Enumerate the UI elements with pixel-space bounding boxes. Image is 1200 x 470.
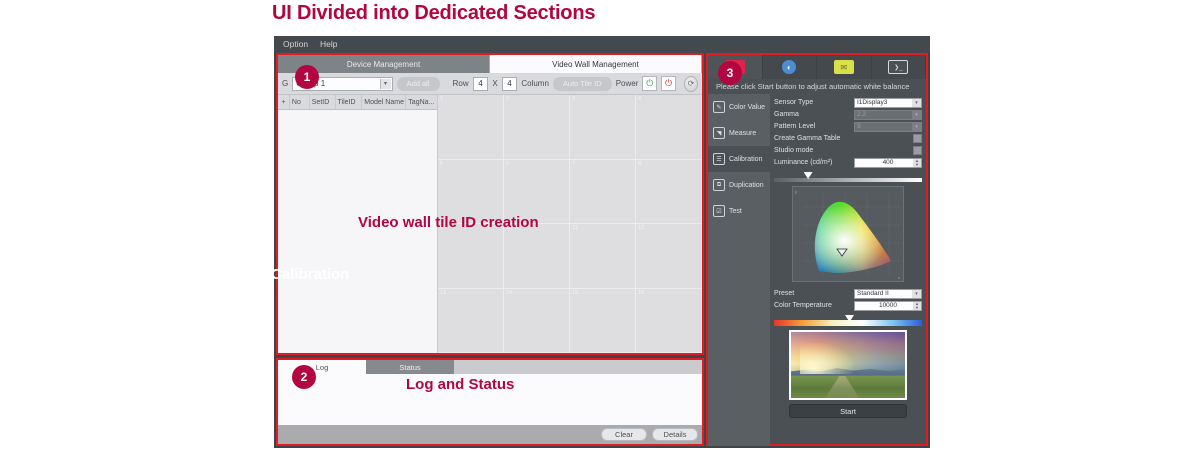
tab-log[interactable]: Log: [278, 360, 366, 374]
tile-number: 7: [572, 161, 575, 167]
globe-icon: ◐: [782, 60, 796, 74]
badge-1: 1: [295, 65, 319, 89]
auto-tile-id-button[interactable]: Auto Tile ID: [553, 77, 612, 91]
start-button[interactable]: Start: [789, 404, 907, 418]
page-title: UI Divided into Dedicated Sections: [272, 2, 595, 25]
preset-select[interactable]: Standard II ▾: [854, 289, 922, 299]
screenshot-root: UI Divided into Dedicated Sections Optio…: [0, 0, 1200, 470]
field-sensor-type: Sensor Type I1Display3 ▾: [774, 97, 922, 108]
tile-number: 15: [572, 290, 578, 296]
video-wall-toolbar: G Group 1 ▾ Add all Row 4 X 4 Column Aut…: [278, 73, 702, 95]
studio-mode-checkbox[interactable]: [913, 146, 922, 155]
sensor-type-select[interactable]: I1Display3 ▾: [854, 98, 922, 108]
chevron-down-icon: ▾: [380, 79, 391, 89]
column-label: Column: [521, 79, 549, 88]
sidebar-item-duplication[interactable]: ⧉ Duplication: [708, 172, 770, 198]
log-content-area[interactable]: [278, 374, 702, 425]
field-label: Gamma: [774, 111, 854, 118]
field-label: Sensor Type: [774, 99, 854, 106]
badge-2: 2: [292, 365, 316, 389]
chevron-down-icon: ▾: [912, 111, 921, 119]
app-window: Option Help Device Management Video Wall…: [274, 36, 930, 448]
tile-cell[interactable]: 8: [636, 160, 702, 225]
tile-number: 16: [638, 290, 644, 296]
cie-chromaticity-diagram[interactable]: y x: [792, 186, 904, 282]
power-label: Power: [616, 79, 639, 88]
measure-icon: ◥: [713, 127, 725, 139]
column-header-tagname: TagNa...: [406, 95, 437, 109]
tile-cell[interactable]: 12: [636, 224, 702, 289]
log-footer: Clear Details: [278, 425, 702, 444]
sidebar-item-calibration[interactable]: ☰ Calibration: [708, 146, 770, 172]
tile-number: 5: [440, 161, 443, 167]
field-value: 400: [883, 159, 894, 166]
sidebar-item-label: Measure: [729, 130, 756, 137]
main-tab-bar: Device Management Video Wall Management: [278, 55, 702, 73]
field-pattern-level: Pattern Level 9 ▾: [774, 121, 922, 132]
monitor-icon: ☑: [713, 205, 725, 217]
sidebar-item-label: Test: [729, 208, 742, 215]
tile-cell[interactable]: 7: [570, 160, 636, 225]
column-header-tileid: TileID: [336, 95, 363, 109]
tab-video-wall-management[interactable]: Video Wall Management: [490, 55, 702, 73]
group-label: G: [282, 79, 288, 88]
tile-number: 4: [638, 96, 641, 102]
copy-icon: ⧉: [713, 179, 725, 191]
video-wall-body: + No SetID TileID Model Name TagNa... 1 …: [278, 95, 702, 353]
chevron-down-icon: ▾: [912, 290, 921, 298]
create-gamma-table-checkbox[interactable]: [913, 134, 922, 143]
log-tab-filler: [454, 360, 702, 374]
tile-number: 13: [440, 290, 446, 296]
field-preset: Preset Standard II ▾: [774, 288, 922, 299]
calibration-nav: ✎ Color Value ◥ Measure ☰ Calibration ⧉ …: [708, 94, 770, 446]
tile-cell[interactable]: 13: [438, 289, 504, 354]
device-table-body[interactable]: [278, 110, 437, 353]
menu-item-option[interactable]: Option: [283, 36, 308, 53]
section-log-status: Log Status Clear Details: [276, 358, 704, 446]
tile-number: 1: [440, 96, 443, 102]
tile-number: 10: [506, 225, 512, 231]
power-off-icon[interactable]: ⏻: [661, 76, 676, 91]
pattern-level-select[interactable]: 9 ▾: [854, 122, 922, 132]
tile-cell[interactable]: 3: [570, 95, 636, 160]
luminance-slider-track: [774, 178, 922, 182]
sidebar-item-measure[interactable]: ◥ Measure: [708, 120, 770, 146]
cie-x-axis-label: x: [898, 276, 900, 280]
column-header-setid: SetID: [310, 95, 336, 109]
sidebar-item-label: Color Value: [729, 104, 765, 111]
calibration-hint: Please click Start button to adjust auto…: [708, 79, 926, 94]
tile-cell[interactable]: 5: [438, 160, 504, 225]
field-value: Standard II: [857, 290, 889, 297]
chevron-down-icon: ▾: [912, 99, 921, 107]
badge-3: 3: [718, 61, 742, 85]
tile-number: 11: [572, 225, 578, 231]
menu-bar: Option Help: [274, 36, 930, 53]
tile-cell[interactable]: 9: [438, 224, 504, 289]
field-value: 10000: [879, 302, 897, 309]
field-gamma: Gamma 2.2 ▾: [774, 109, 922, 120]
tile-cell[interactable]: 16: [636, 289, 702, 354]
calibration-settings: Sensor Type I1Display3 ▾ Gamma 2.2 ▾: [770, 94, 926, 446]
field-label: Preset: [774, 290, 854, 297]
field-create-gamma-table: Create Gamma Table: [774, 133, 922, 144]
sidebar-item-label: Duplication: [729, 182, 764, 189]
tile-number: 12: [638, 225, 644, 231]
tile-number: 2: [506, 96, 509, 102]
terminal-icon: ❯_: [888, 60, 908, 74]
log-tab-bar: Log Status: [278, 360, 702, 374]
tile-number: 14: [506, 290, 512, 296]
field-studio-mode: Studio mode: [774, 145, 922, 156]
field-label: Studio mode: [774, 147, 854, 154]
clear-button[interactable]: Clear: [601, 428, 647, 441]
luminance-slider[interactable]: [774, 172, 922, 184]
tab-network[interactable]: ◐: [763, 55, 818, 79]
field-luminance: Luminance (cd/m²) 400 ▲▼: [774, 157, 922, 168]
tile-cell[interactable]: 10: [504, 224, 570, 289]
cie-diagram-svg: [793, 187, 905, 283]
field-color-temperature: Color Temperature 10000 ▲▼: [774, 300, 922, 311]
calibration-preview-image: [789, 330, 907, 400]
sidebar-item-label: Calibration: [729, 156, 762, 163]
tile-number: 6: [506, 161, 509, 167]
x-separator: X: [492, 79, 497, 88]
sidebar-item-test[interactable]: ☑ Test: [708, 198, 770, 224]
tile-cell[interactable]: 11: [570, 224, 636, 289]
column-input[interactable]: 4: [502, 77, 518, 91]
tile-cell[interactable]: 1: [438, 95, 504, 160]
spinner-icon[interactable]: ▲▼: [913, 159, 921, 167]
sidebar-item-color-value[interactable]: ✎ Color Value: [708, 94, 770, 120]
field-label: Luminance (cd/m²): [774, 159, 854, 166]
field-label: Create Gamma Table: [774, 135, 854, 142]
refresh-icon[interactable]: ⟳: [684, 76, 698, 92]
video-wall-grid: 1 2 3 4 5 6 7 8 9 10 11 12 13 14: [438, 95, 702, 353]
menu-item-help[interactable]: Help: [320, 36, 337, 53]
tile-cell[interactable]: 15: [570, 289, 636, 354]
row-input[interactable]: 4: [473, 77, 489, 91]
tab-status[interactable]: Status: [366, 360, 454, 374]
details-button[interactable]: Details: [652, 428, 698, 441]
field-value: 9: [857, 123, 861, 130]
envelope-icon: ✉: [834, 60, 854, 74]
calibration-body: ✎ Color Value ◥ Measure ☰ Calibration ⧉ …: [708, 94, 926, 446]
field-label: Pattern Level: [774, 123, 854, 130]
tile-number: 8: [638, 161, 641, 167]
color-temperature-slider-track: [774, 320, 922, 326]
eyedropper-icon: ✎: [713, 101, 725, 113]
tile-cell[interactable]: 2: [504, 95, 570, 160]
tile-number: 3: [572, 96, 575, 102]
add-all-button[interactable]: Add all: [397, 77, 440, 91]
tab-terminal[interactable]: ❯_: [872, 55, 927, 79]
device-table: + No SetID TileID Model Name TagNa...: [278, 95, 438, 353]
color-temperature-slider[interactable]: [774, 315, 922, 327]
cie-y-axis-label: y: [795, 190, 797, 194]
tile-cell[interactable]: 14: [504, 289, 570, 354]
tile-cell[interactable]: 6: [504, 160, 570, 225]
spinner-icon[interactable]: ▲▼: [913, 302, 921, 310]
color-temperature-input[interactable]: 10000 ▲▼: [854, 301, 922, 311]
sliders-icon: ☰: [713, 153, 725, 165]
device-table-header: + No SetID TileID Model Name TagNa...: [278, 95, 437, 110]
field-value: 2.2: [857, 111, 866, 118]
tile-number: 9: [440, 225, 443, 231]
power-on-icon[interactable]: ⏻: [642, 76, 657, 91]
section-calibration: ⚙ ◐ ✉ ❯_ Please click Start button to ad…: [706, 53, 928, 446]
tab-mail[interactable]: ✉: [817, 55, 872, 79]
video-wall-canvas[interactable]: 1 2 3 4 5 6 7 8 9 10 11 12 13 14: [438, 95, 702, 353]
column-header-expand: +: [278, 95, 290, 109]
preview-sun-glow: [800, 343, 852, 375]
field-value: I1Display3: [857, 99, 887, 106]
gamma-select[interactable]: 2.2 ▾: [854, 110, 922, 120]
chevron-down-icon: ▾: [912, 123, 921, 131]
field-label: Color Temperature: [774, 302, 854, 309]
row-label: Row: [453, 79, 469, 88]
tile-cell[interactable]: 4: [636, 95, 702, 160]
luminance-input[interactable]: 400 ▲▼: [854, 158, 922, 168]
column-header-no: No: [290, 95, 310, 109]
column-header-model-name: Model Name: [362, 95, 406, 109]
section-video-wall: Device Management Video Wall Management …: [276, 53, 704, 355]
